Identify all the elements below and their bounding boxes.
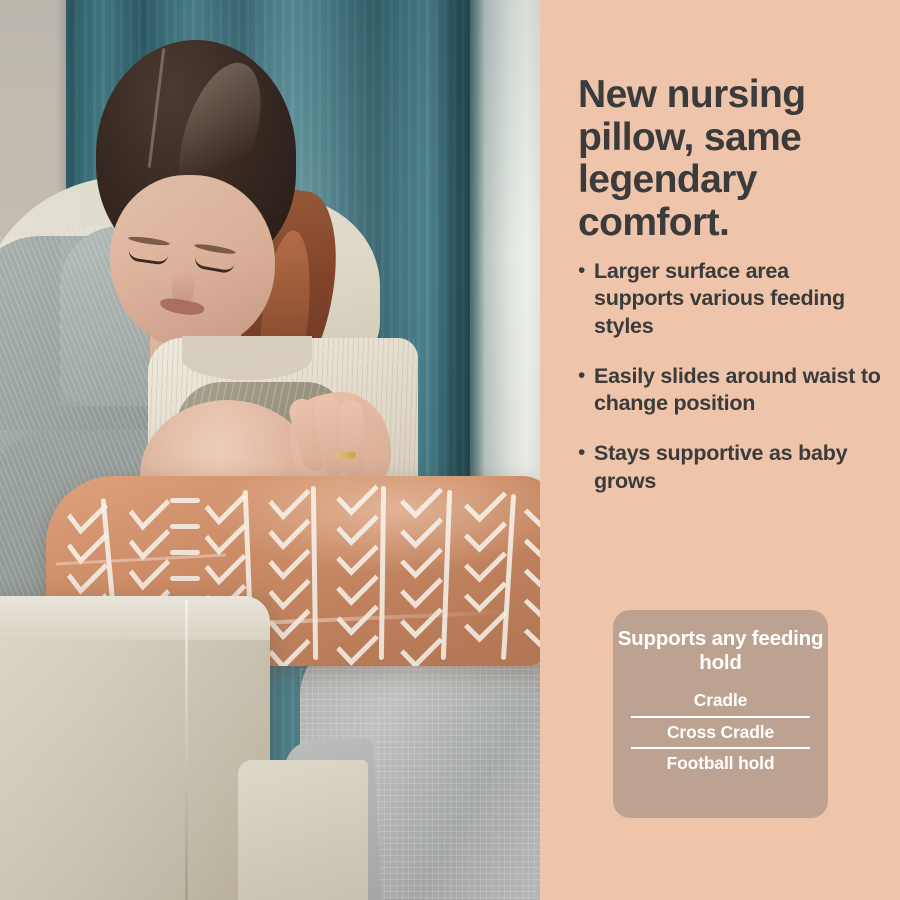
finger — [339, 400, 366, 477]
face — [110, 175, 275, 350]
feeding-hold-card: Supports any feeding hold Cradle Cross C… — [613, 610, 828, 818]
wedding-ring — [336, 451, 356, 459]
info-panel: New nursing pillow, same legendary comfo… — [540, 0, 900, 900]
pillow-dash — [170, 576, 200, 581]
pillow-dash — [170, 498, 200, 503]
lifestyle-photo — [0, 0, 540, 900]
sofa-seat-cushion — [238, 760, 368, 900]
sofa-arm — [0, 596, 270, 900]
list-item: • Stays supportive as baby grows — [578, 440, 883, 495]
list-item: • Easily slides around waist to change p… — [578, 363, 883, 418]
pillow-dash — [170, 524, 200, 529]
benefit-text: Larger surface area supports various fee… — [594, 258, 883, 340]
sofa-arm-top — [0, 596, 270, 640]
sofa-arm-seam — [185, 600, 188, 900]
benefit-text: Easily slides around waist to change pos… — [594, 363, 883, 418]
top-neckline — [182, 336, 312, 380]
bullet-icon: • — [578, 440, 594, 495]
card-title: Supports any feeding hold — [613, 627, 828, 675]
benefit-text: Stays supportive as baby grows — [594, 440, 883, 495]
bullet-icon: • — [578, 258, 594, 340]
ad-creative: New nursing pillow, same legendary comfo… — [0, 0, 900, 900]
feeding-hold-list: Cradle Cross Cradle Football hold — [613, 686, 828, 779]
list-item: • Larger surface area supports various f… — [578, 258, 883, 340]
feeding-hold-item: Football hold — [631, 747, 810, 779]
benefit-list: • Larger surface area supports various f… — [578, 258, 883, 518]
feeding-hold-item: Cross Cradle — [631, 716, 810, 748]
bullet-icon: • — [578, 363, 594, 418]
feeding-hold-item: Cradle — [631, 686, 810, 716]
headline: New nursing pillow, same legendary comfo… — [578, 74, 878, 244]
